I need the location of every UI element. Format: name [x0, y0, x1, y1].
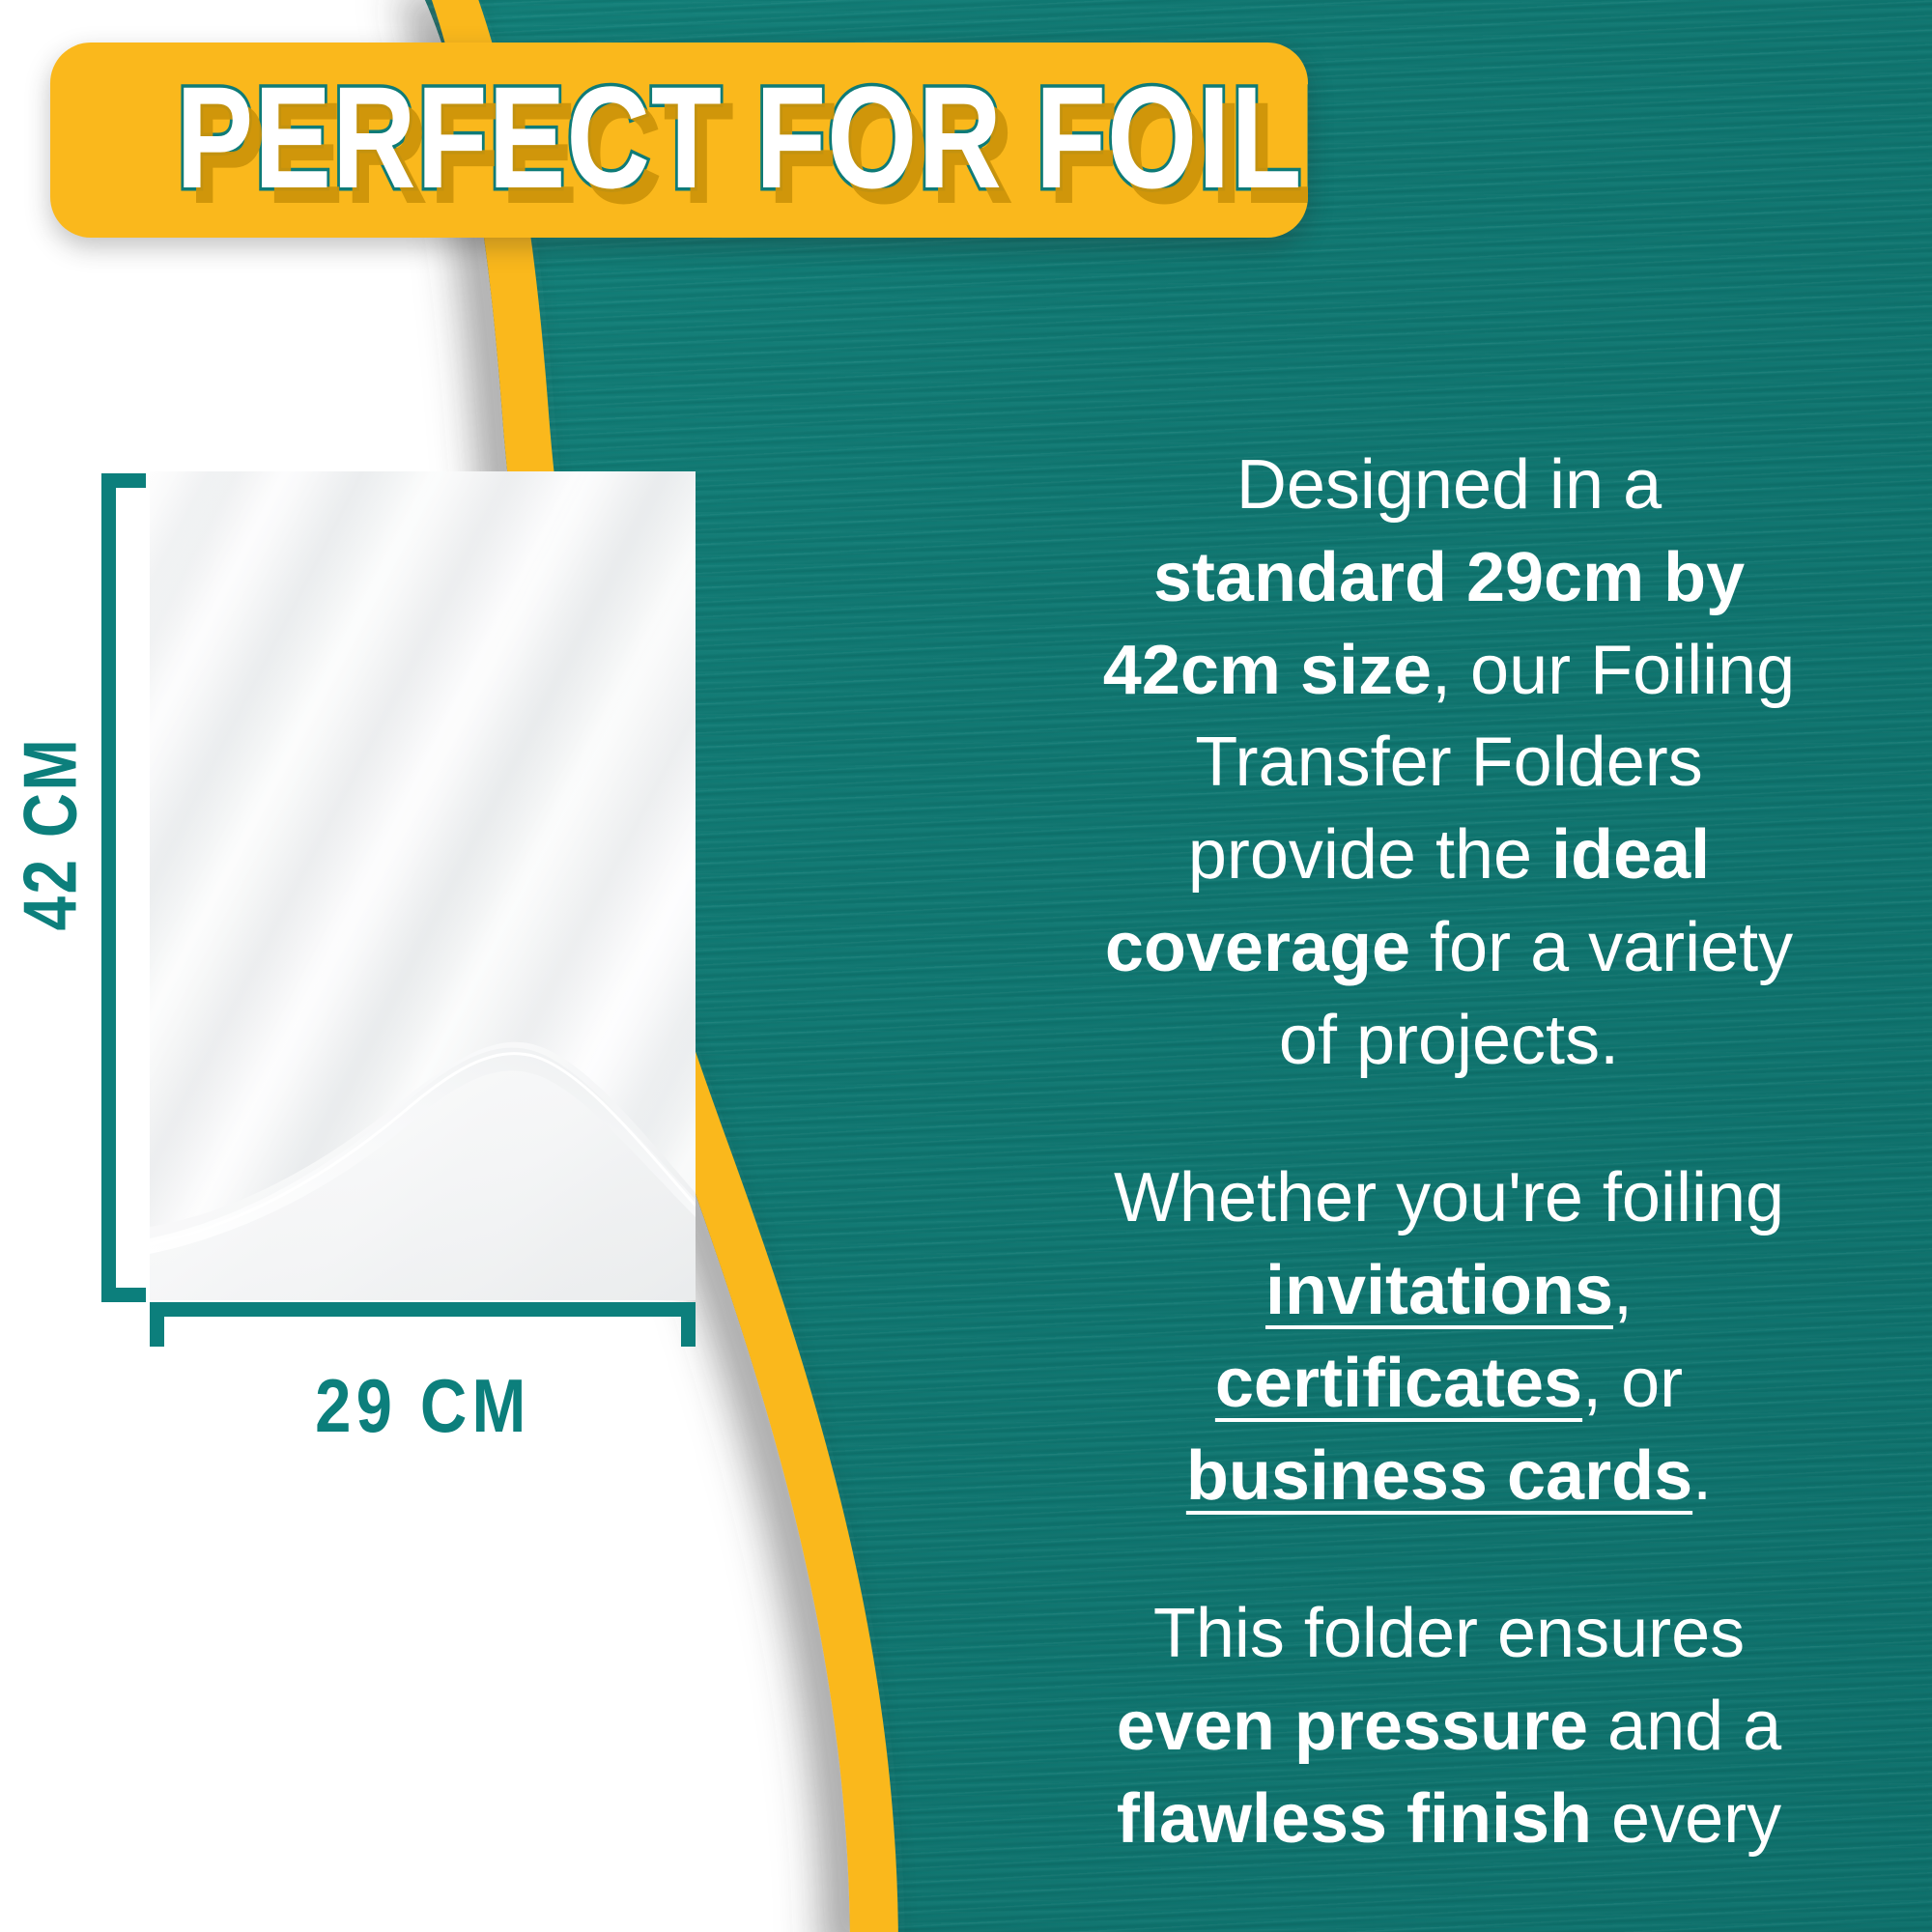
copy-bold-run: even pressure — [1117, 1688, 1588, 1765]
copy-text-run: Designed in a — [1236, 446, 1662, 524]
height-dimension-bracket — [101, 473, 148, 1302]
copy-bold-run: business cards — [1186, 1437, 1692, 1515]
copy-text-run: every — [1592, 1780, 1781, 1858]
copy-text-run: flawless finish — [1117, 1780, 1592, 1858]
product-sheet-image — [150, 471, 696, 1300]
copy-bold-run: certificates — [1215, 1345, 1582, 1422]
copy-paragraph: Designed in a standard 29cm by 42cm size… — [1092, 440, 1806, 1087]
height-dimension-value: 42 CM — [7, 737, 95, 931]
bracket-cap-left — [150, 1302, 164, 1347]
copy-highlight-term: invitations — [1265, 1252, 1613, 1329]
width-dimension-value: 29 CM — [315, 1362, 530, 1450]
copy-text-run: , or — [1582, 1345, 1683, 1422]
bracket-stem — [150, 1302, 696, 1317]
copy-underline-run: certificates — [1215, 1345, 1582, 1422]
copy-bold-run: invitations — [1265, 1252, 1613, 1329]
bracket-cap-top — [101, 473, 146, 488]
product-dimension-area: 42 CM 29 CM — [0, 0, 869, 1932]
bracket-cap-bottom — [101, 1288, 146, 1302]
infographic-canvas: PERFECT FOR FOILING PROJECTS — [0, 0, 1932, 1932]
copy-text-run: This folder ensures — [1153, 1595, 1745, 1672]
copy-text-run: , — [1613, 1252, 1633, 1329]
copy-highlight-term: business cards — [1186, 1437, 1692, 1515]
copy-underline-run: business cards — [1186, 1437, 1692, 1515]
copy-text-run: and a — [1588, 1688, 1781, 1765]
copy-text-run: Whether you're foiling — [1114, 1159, 1784, 1236]
description-copy-block: Designed in a standard 29cm by 42cm size… — [1092, 440, 1806, 1866]
copy-text-run: even pressure — [1117, 1688, 1588, 1765]
width-dimension-bracket — [150, 1302, 696, 1349]
bracket-stem — [101, 473, 116, 1302]
copy-text-run: . — [1692, 1437, 1712, 1515]
copy-paragraph: Whether you're foiling invitations, cert… — [1092, 1152, 1806, 1522]
copy-underline-run: invitations — [1265, 1252, 1613, 1329]
height-dimension-label: 42 CM — [7, 740, 95, 952]
width-dimension-label: 29 CM — [150, 1362, 696, 1450]
sheet-curled-fold — [150, 985, 696, 1300]
bracket-cap-right — [681, 1302, 696, 1347]
copy-bold-run: flawless finish — [1117, 1780, 1592, 1858]
copy-paragraph: This folder ensures even pressure and a … — [1092, 1588, 1806, 1865]
copy-highlight-term: certificates — [1215, 1345, 1582, 1422]
